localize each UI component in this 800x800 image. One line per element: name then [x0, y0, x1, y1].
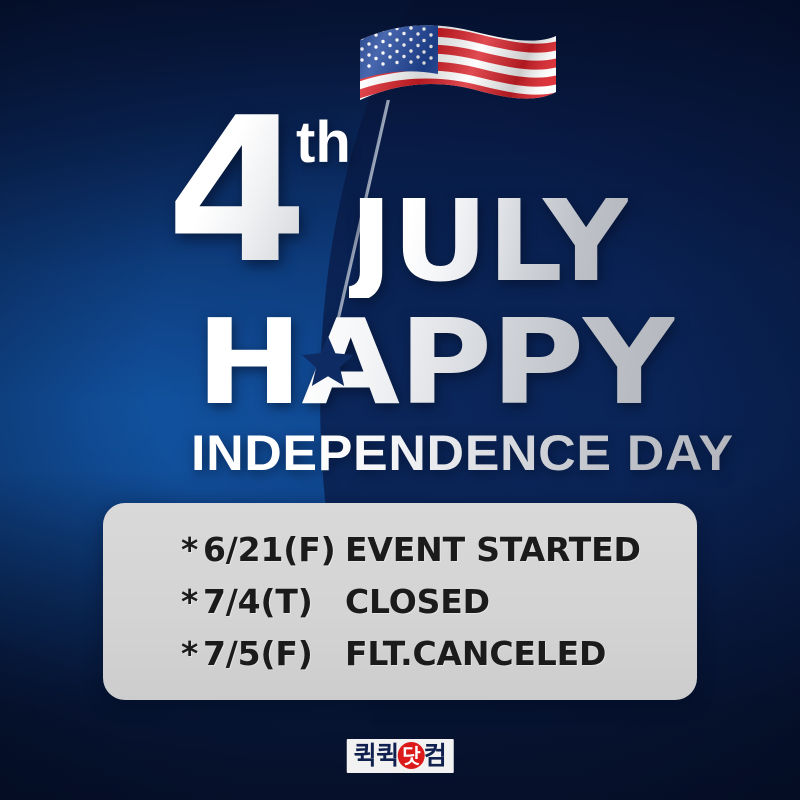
brand-text-suffix: 컴: [424, 743, 447, 769]
notice-label: EVENT STARTED: [345, 524, 697, 576]
notice-date: 6/21(F): [203, 524, 345, 576]
brand-text-prefix: 퀵퀵: [354, 743, 399, 769]
brand-dot-label: 닷: [402, 746, 420, 766]
us-flag-icon: [352, 18, 562, 138]
notice-date: 7/5(F): [203, 628, 345, 680]
list-item: * 7/4(T) CLOSED: [181, 576, 697, 628]
list-item: * 6/21(F) EVENT STARTED: [181, 524, 697, 576]
notice-label: FLT.CANCELED: [345, 628, 697, 680]
poster-canvas: 4 th JULY HAPPY INDEPENDENCE DAY * 6/21(…: [0, 0, 800, 800]
notice-bullet: *: [181, 576, 203, 628]
notice-bullet: *: [181, 524, 203, 576]
notice-date: 7/4(T): [203, 576, 345, 628]
notice-label: CLOSED: [345, 576, 697, 628]
notice-list: * 6/21(F) EVENT STARTED * 7/4(T) CLOSED …: [103, 524, 697, 680]
list-item: * 7/5(F) FLT.CANCELED: [181, 628, 697, 680]
notice-bullet: *: [181, 628, 203, 680]
notice-card: * 6/21(F) EVENT STARTED * 7/4(T) CLOSED …: [103, 503, 697, 700]
brand-dot-badge: 닷: [398, 742, 425, 769]
brand-logo[interactable]: 퀵퀵 닷 컴: [347, 739, 454, 773]
